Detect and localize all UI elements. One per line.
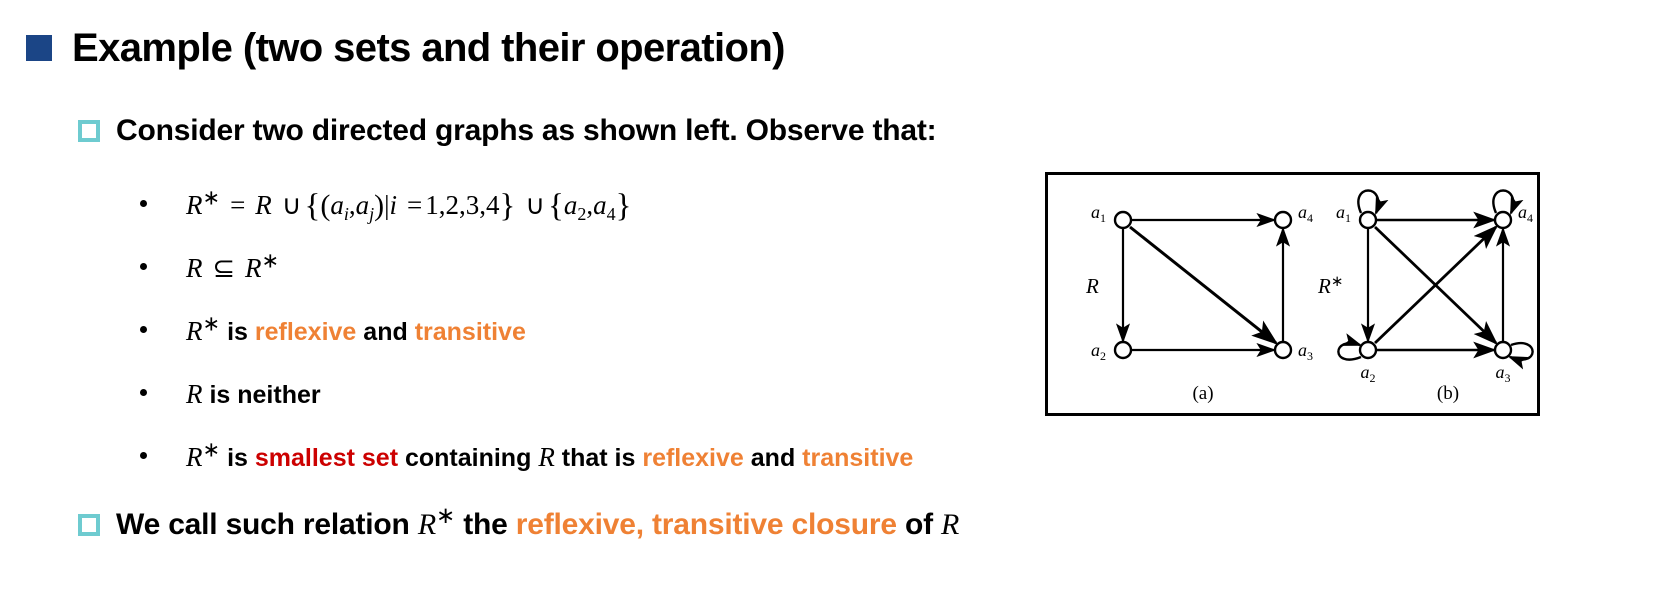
dot-bullet-icon: [140, 326, 147, 333]
symbol-a: a: [593, 190, 607, 220]
list-item-point-2: R ⊆ R∗: [140, 254, 279, 282]
directed-graphs-figure: a1 a4 a2 a3 R (a): [1045, 172, 1540, 416]
list-item-point-5: R∗ is smallest set containing R that is …: [140, 443, 913, 471]
symbol-sub-4: 4: [607, 204, 616, 224]
word-is: is: [227, 444, 248, 472]
point-5-text: R∗ is smallest set containing R that is …: [186, 443, 913, 471]
self-loop-a4: [1493, 191, 1513, 214]
intro-text: Consider two directed graphs as shown le…: [116, 116, 936, 146]
node-a3: [1275, 342, 1291, 358]
node-label-a1: a1: [1336, 202, 1351, 225]
graph-b-caption: (b): [1437, 383, 1459, 404]
dot-bullet-icon: [140, 452, 147, 459]
phrase-that-is: that is: [562, 444, 636, 472]
keyword-smallest-set: smallest set: [255, 444, 398, 472]
word-containing: containing: [405, 444, 531, 472]
graph-b: a1 a4 a2 a3 R∗ (b): [1317, 191, 1533, 405]
symbol-equals: =: [404, 190, 425, 220]
symbol-paren-open: (: [320, 189, 330, 222]
symbol-sub-2: 2: [577, 204, 586, 224]
keyword-transitive: transitive: [802, 444, 913, 472]
symbol-union: ∪: [522, 190, 548, 220]
symbol-star: ∗: [203, 312, 221, 336]
node-a1: [1115, 212, 1131, 228]
graphs-svg: a1 a4 a2 a3 R (a): [1048, 175, 1537, 413]
node-label-a3: a3: [1496, 362, 1511, 385]
keyword-reflexive: reflexive: [255, 318, 356, 346]
symbol-star: ∗: [203, 438, 221, 462]
word-of: of: [905, 508, 933, 541]
self-loop-a1: [1358, 191, 1378, 214]
self-loop-a2: [1338, 343, 1361, 359]
node-label-a3: a3: [1298, 340, 1313, 363]
node-a2: [1360, 342, 1376, 358]
symbol-R: R: [186, 442, 203, 472]
dot-bullet-icon: [140, 263, 147, 270]
list-item-point-3: R∗ is reflexive and transitive: [140, 317, 526, 345]
graph-a: a1 a4 a2 a3 R (a): [1085, 202, 1313, 404]
self-loop-a3: [1510, 343, 1533, 359]
symbol-paren-close: ): [374, 189, 384, 222]
symbol-equals: =: [227, 190, 248, 220]
graph-a-relation-label: R: [1085, 274, 1099, 298]
symbol-R: R: [538, 442, 555, 472]
keyword-reflexive-transitive-closure: reflexive, transitive closure: [516, 508, 897, 541]
phrase-we-call: We call such relation: [116, 508, 410, 541]
symbol-R: R: [186, 316, 203, 346]
word-and: and: [751, 444, 795, 472]
hollow-square-bullet-icon: [78, 120, 100, 142]
list-item-point-4: R is neither: [140, 380, 321, 408]
symbol-R: R: [186, 379, 203, 409]
intro-bullet-row: Consider two directed graphs as shown le…: [78, 116, 936, 146]
point-1-text: R∗ = R ∪{(ai,aj)|i =1,2,3,4} ∪{a2,a4}: [186, 191, 631, 219]
symbol-brace-close: }: [499, 188, 515, 224]
conclusion-bullet-row: We call such relation R∗ the reflexive, …: [78, 510, 959, 540]
filled-square-bullet-icon: [26, 35, 52, 61]
symbol-R: R: [941, 508, 959, 541]
page-title: Example (two sets and their operation): [72, 28, 785, 68]
point-2-text: R ⊆ R∗: [186, 254, 279, 282]
phrase-is-neither: is neither: [209, 381, 320, 409]
symbol-R: R: [418, 508, 436, 541]
symbol-a: a: [330, 190, 344, 220]
dot-bullet-icon: [140, 200, 147, 207]
node-a2: [1115, 342, 1131, 358]
conclusion-text: We call such relation R∗ the reflexive, …: [116, 510, 959, 540]
word-is: is: [227, 318, 248, 346]
edge-a1-a3: [1130, 227, 1276, 343]
node-label-a2: a2: [1091, 340, 1106, 363]
word-the: the: [463, 508, 507, 541]
slide-title-row: Example (two sets and their operation): [26, 28, 785, 68]
symbol-subset: ⊆: [209, 253, 238, 283]
point-3-text: R∗ is reflexive and transitive: [186, 317, 526, 345]
symbol-brace-open: {: [548, 188, 564, 224]
symbol-a: a: [356, 190, 370, 220]
node-a4: [1495, 212, 1511, 228]
symbol-R: R: [186, 253, 203, 283]
node-label-a4: a4: [1298, 202, 1313, 225]
symbol-comma: ,: [349, 190, 356, 220]
graph-b-relation-label: R∗: [1317, 274, 1343, 298]
list-item-point-1: R∗ = R ∪{(ai,aj)|i =1,2,3,4} ∪{a2,a4}: [140, 191, 631, 219]
symbol-R: R: [186, 190, 203, 220]
symbol-i: i: [390, 190, 398, 220]
point-4-text: R is neither: [186, 380, 321, 408]
keyword-transitive: transitive: [415, 318, 526, 346]
keyword-reflexive: reflexive: [642, 444, 743, 472]
symbol-star: ∗: [203, 186, 221, 210]
symbol-R: R: [245, 253, 262, 283]
symbol-range: 1,2,3,4: [425, 190, 499, 220]
symbol-brace-close: }: [616, 188, 632, 224]
node-label-a1: a1: [1091, 202, 1106, 225]
word-and: and: [363, 318, 407, 346]
node-a4: [1275, 212, 1291, 228]
symbol-star: ∗: [436, 503, 455, 528]
symbol-brace-open: {: [304, 188, 320, 224]
node-a1: [1360, 212, 1376, 228]
hollow-square-bullet-icon: [78, 514, 100, 536]
symbol-star: ∗: [262, 249, 280, 273]
symbol-union: ∪: [279, 190, 305, 220]
node-a3: [1495, 342, 1511, 358]
symbol-R: R: [255, 190, 272, 220]
node-label-a4: a4: [1518, 202, 1533, 225]
dot-bullet-icon: [140, 389, 147, 396]
symbol-a: a: [564, 190, 578, 220]
graph-a-caption: (a): [1192, 383, 1213, 404]
node-label-a2: a2: [1361, 362, 1376, 385]
